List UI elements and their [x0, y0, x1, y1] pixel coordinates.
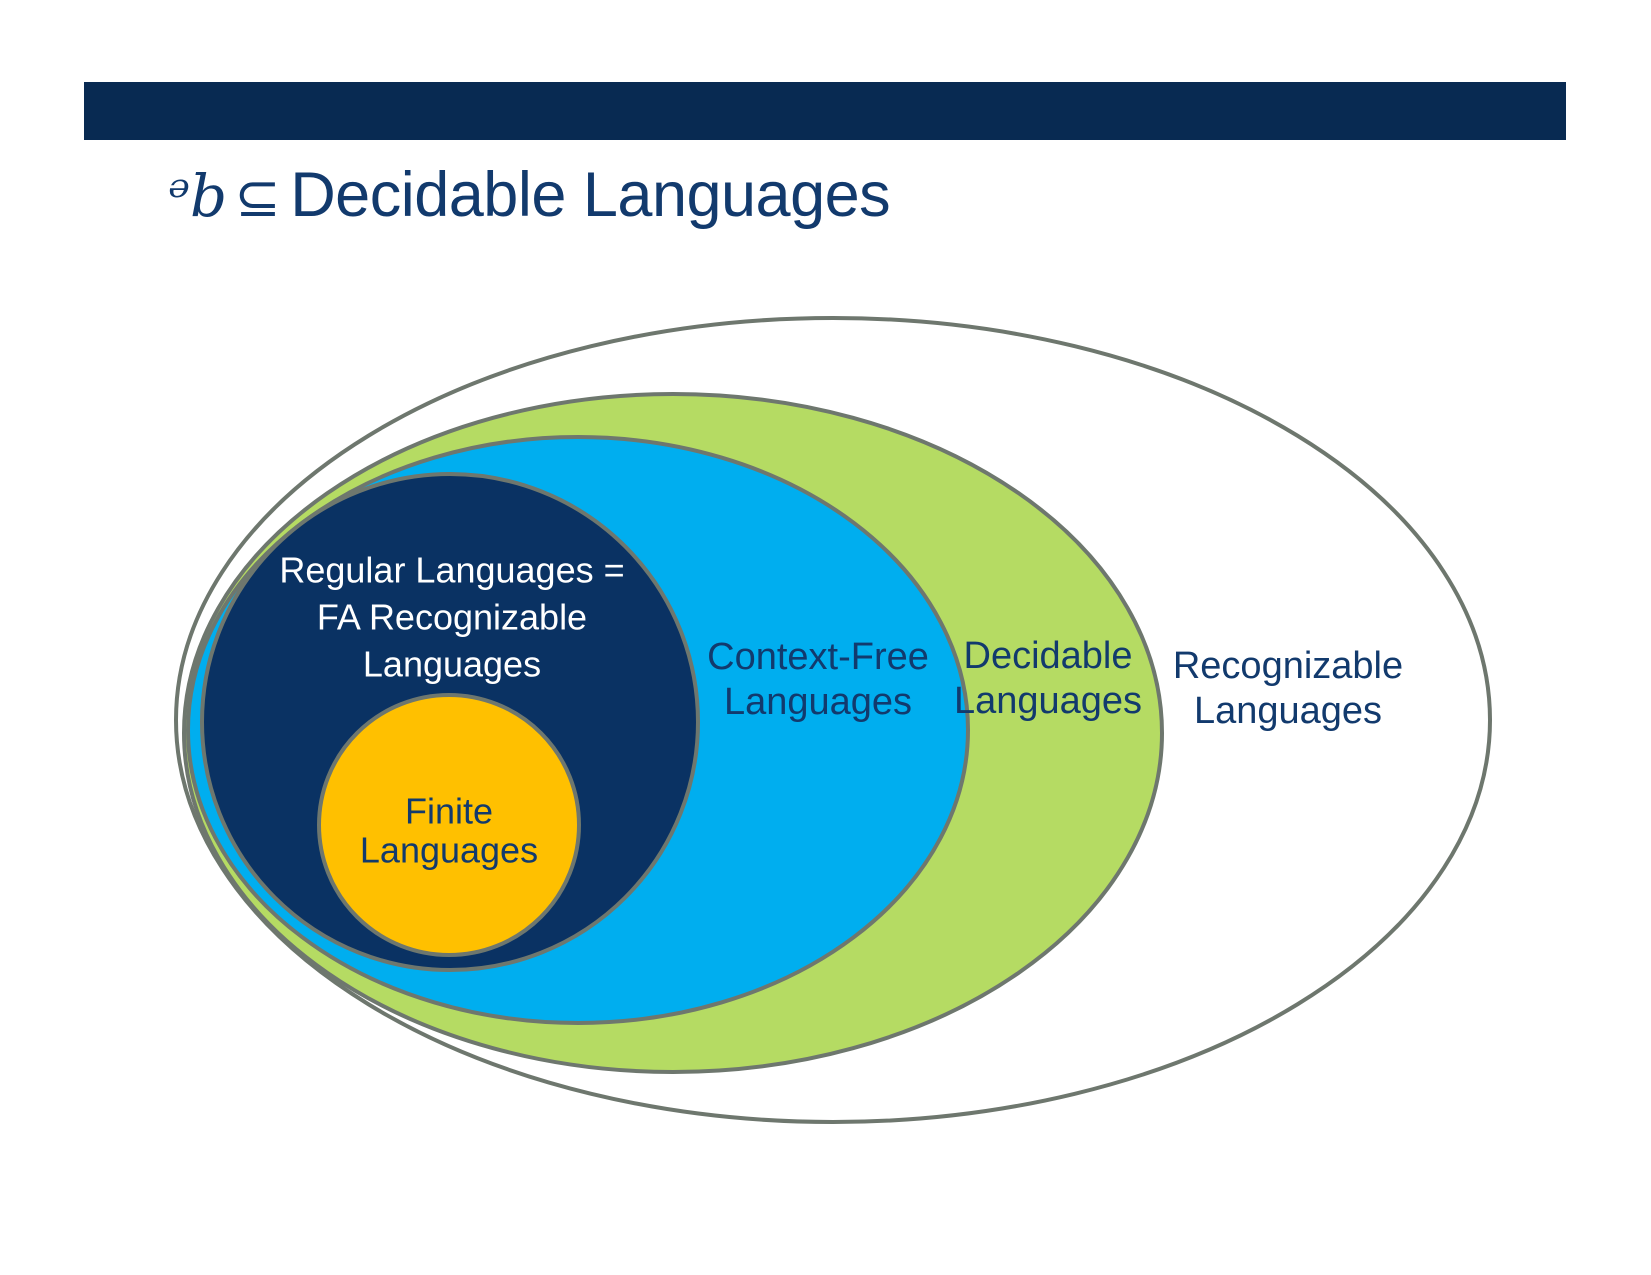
header-band — [84, 82, 1566, 140]
label-regular-languages-line2: FA Recognizable — [317, 597, 587, 638]
label-finite-languages-line1: Finite — [405, 791, 493, 832]
subset-symbol: ⊆ — [231, 165, 291, 229]
venn-svg: Regular Languages = FA Recognizable Lang… — [0, 250, 1651, 1170]
label-decidable-languages-line2: Languages — [954, 680, 1142, 722]
language-hierarchy-diagram: Regular Languages = FA Recognizable Lang… — [0, 250, 1651, 1170]
label-context-free-languages-line1: Context-Free — [707, 636, 929, 678]
page-title: ᵊb⊆Decidable Languages — [168, 152, 890, 238]
label-context-free-languages-line2: Languages — [724, 681, 912, 723]
label-recognizable-languages-line1: Recognizable — [1173, 645, 1403, 687]
label-recognizable-languages-line2: Languages — [1194, 690, 1382, 732]
label-finite-languages-line2: Languages — [360, 830, 538, 871]
label-regular-languages-line3: Languages — [363, 644, 541, 685]
power-class-symbol: ᵊb — [168, 162, 231, 230]
label-regular-languages-line1: Regular Languages = — [279, 550, 624, 591]
label-decidable-languages-line1: Decidable — [964, 635, 1133, 677]
slide-canvas: ᵊb⊆Decidable Languages Regular Languages… — [0, 0, 1651, 1275]
page-title-text: Decidable Languages — [290, 160, 890, 230]
